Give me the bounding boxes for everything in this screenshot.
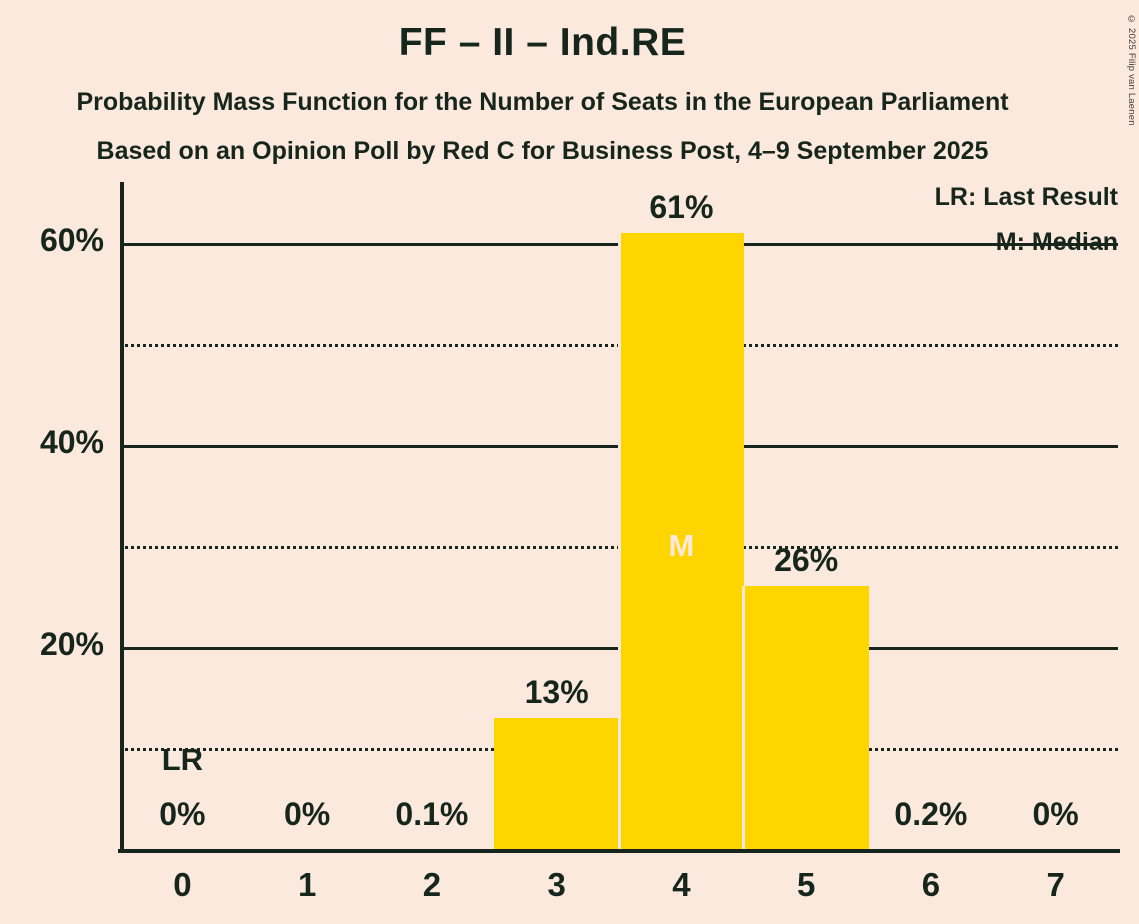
chart-subtitle-secondary: Based on an Opinion Poll by Red C for Bu… — [0, 137, 1085, 166]
x-axis-line — [118, 849, 1120, 853]
copyright-notice: © 2025 Filip van Laenen — [1126, 14, 1137, 126]
bar — [494, 718, 619, 849]
y-tick-label: 60% — [0, 222, 104, 259]
bar-value-label: 0% — [120, 796, 245, 833]
x-tick-label: 1 — [245, 866, 370, 904]
median-marker: M — [619, 528, 744, 564]
plot-area — [120, 182, 1118, 849]
last-result-marker: LR — [120, 742, 245, 778]
bar-value-label: 0.2% — [869, 796, 994, 833]
x-tick-label: 2 — [370, 866, 495, 904]
x-tick-label: 5 — [744, 866, 869, 904]
bar-value-label: 13% — [494, 674, 619, 711]
bar — [744, 586, 869, 849]
bar-value-label: 0.1% — [370, 796, 495, 833]
x-tick-label: 7 — [993, 866, 1118, 904]
page-title: FF – II – Ind.RE — [0, 21, 1085, 65]
x-tick-label: 0 — [120, 866, 245, 904]
bar-value-label: 61% — [619, 189, 744, 226]
chart-container: FF – II – Ind.RE Probability Mass Functi… — [0, 0, 1139, 924]
x-tick-label: 3 — [494, 866, 619, 904]
x-tick-label: 4 — [619, 866, 744, 904]
bar-separator — [742, 586, 745, 849]
chart-subtitle-primary: Probability Mass Function for the Number… — [0, 88, 1085, 117]
bar-value-label: 0% — [245, 796, 370, 833]
bar-value-label: 26% — [744, 542, 869, 579]
y-tick-label: 40% — [0, 424, 104, 461]
bar-value-label: 0% — [993, 796, 1118, 833]
y-tick-label: 20% — [0, 626, 104, 663]
x-tick-label: 6 — [869, 866, 994, 904]
